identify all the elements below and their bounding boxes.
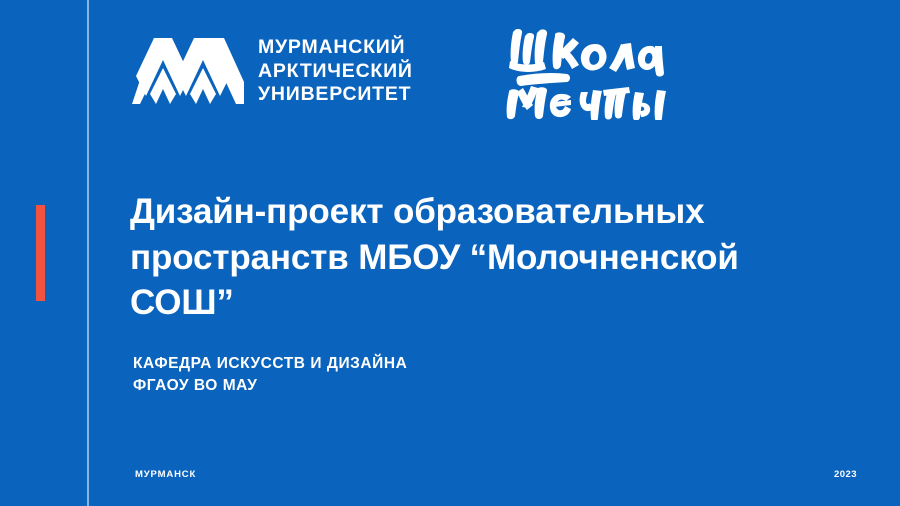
red-accent-bar bbox=[36, 205, 45, 301]
wordmark-line-2: АРКТИЧЕСКИЙ bbox=[258, 60, 413, 83]
shkola-mechty-brush-logo bbox=[497, 16, 673, 120]
subtitle-line-1: КАФЕДРА ИСКУССТВ И ДИЗАЙНА bbox=[133, 353, 407, 375]
shkola-mechty-brush-logo-icon bbox=[497, 16, 673, 120]
subtitle-line-2: ФГАОУ ВО МАУ bbox=[133, 375, 407, 397]
vertical-guide-line bbox=[87, 0, 89, 506]
slide-title: Дизайн-проект образовательных пространст… bbox=[130, 189, 830, 326]
slide-subtitle: КАФЕДРА ИСКУССТВ И ДИЗАЙНА ФГАОУ ВО МАУ bbox=[133, 353, 407, 397]
wordmark-line-3: УНИВЕРСИТЕТ bbox=[258, 83, 413, 106]
footer-year: 2023 bbox=[834, 469, 857, 480]
university-wordmark: МУРМАНСКИЙ АРКТИЧЕСКИЙ УНИВЕРСИТЕТ bbox=[258, 36, 413, 106]
header-logo-area: МУРМАНСКИЙ АРКТИЧЕСКИЙ УНИВЕРСИТЕТ bbox=[132, 28, 413, 114]
title-slide: МУРМАНСКИЙ АРКТИЧЕСКИЙ УНИВЕРСИТЕТ bbox=[0, 0, 900, 506]
wordmark-line-1: МУРМАНСКИЙ bbox=[258, 36, 413, 59]
footer-city: МУРМАНСК bbox=[135, 469, 196, 480]
university-logo-lockup: МУРМАНСКИЙ АРКТИЧЕСКИЙ УНИВЕРСИТЕТ bbox=[132, 36, 413, 106]
mau-mountain-logo-icon bbox=[132, 38, 244, 104]
